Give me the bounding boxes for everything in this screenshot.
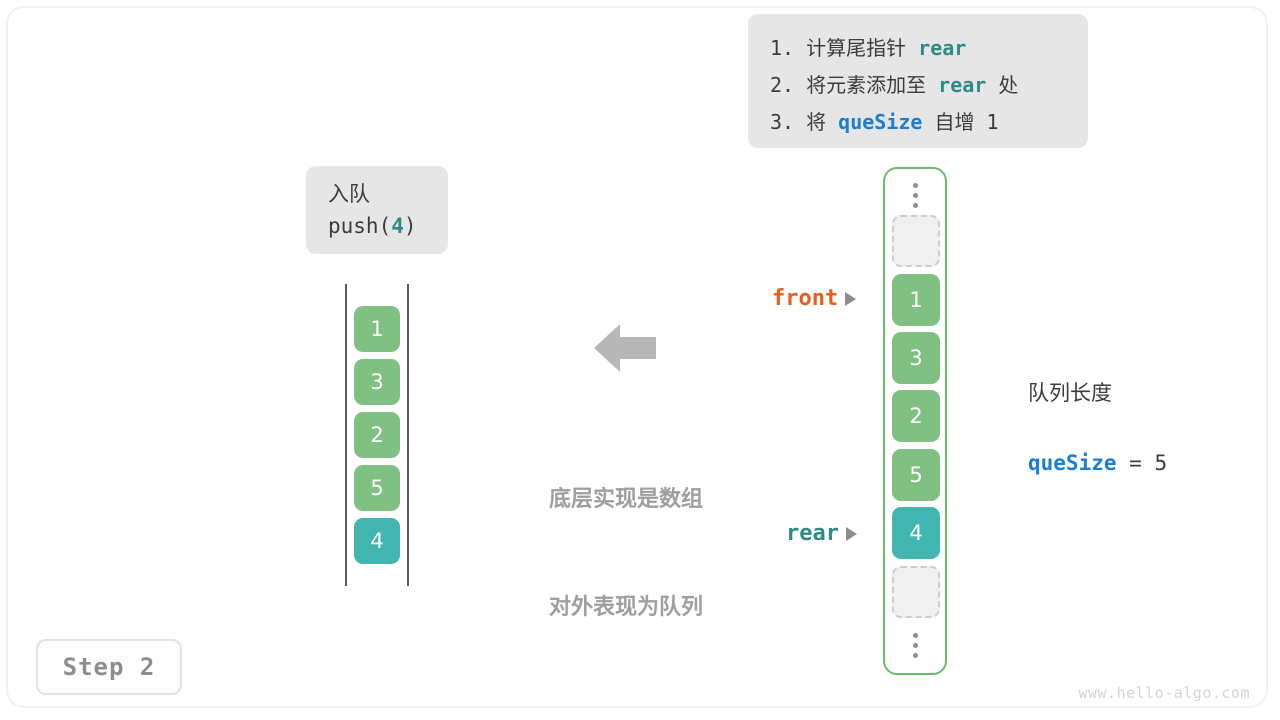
step-badge: Step 2 (36, 639, 182, 695)
step-1-keyword: rear (918, 36, 966, 60)
quesize-caption: 队列长度 (1028, 378, 1167, 408)
push-code-prefix: push( (328, 214, 391, 238)
front-arrow-icon (845, 292, 856, 306)
queue-cell-3: 5 (354, 465, 400, 511)
front-pointer-text: front (772, 286, 838, 311)
push-code-value: 4 (391, 214, 404, 238)
array-cell-1: 1 (892, 274, 940, 326)
rear-pointer-label: rear (786, 521, 857, 546)
queue-cell-1: 3 (354, 359, 400, 405)
array-cell-0 (892, 215, 940, 267)
step-1-text-before: 计算尾指针 (806, 36, 918, 60)
push-operation-label: 入队 (328, 179, 448, 209)
step-line-1: 1. 计算尾指针 rear (770, 30, 1088, 67)
push-code-expression: push(4) (328, 209, 448, 243)
push-code-suffix: ) (404, 214, 417, 238)
array-backing-store: 1 3 2 5 4 (883, 167, 947, 675)
quesize-expression: queSize = 5 (1028, 446, 1167, 480)
step-1-index: 1. (770, 36, 806, 60)
push-operation-box: 入队 push(4) (306, 166, 448, 254)
diagram-canvas: 1. 计算尾指针 rear 2. 将元素添加至 rear 处 3. 将 queS… (0, 0, 1280, 720)
step-2-keyword: rear (938, 73, 986, 97)
queue-rail-right (407, 284, 409, 586)
front-pointer-label: front (772, 286, 856, 311)
quesize-note: 队列长度 queSize = 5 (1028, 340, 1167, 518)
center-caption: 底层实现是数组 对外表现为队列 (528, 410, 724, 698)
watermark: www.hello-algo.com (1078, 684, 1250, 702)
array-bottom-ellipsis-icon (885, 633, 945, 658)
queue-rail-left (345, 284, 347, 586)
steps-instruction-panel: 1. 计算尾指针 rear 2. 将元素添加至 rear 处 3. 将 queS… (748, 14, 1088, 148)
step-2-text-after: 处 (986, 73, 1018, 97)
queue-abstract-view: 1 3 2 5 4 (345, 284, 409, 586)
rear-pointer-text: rear (786, 521, 839, 546)
queue-cell-0: 1 (354, 306, 400, 352)
queue-cell-4: 4 (354, 518, 400, 564)
rear-arrow-icon (846, 527, 857, 541)
step-line-3: 3. 将 queSize 自增 1 (770, 104, 1088, 141)
quesize-variable: queSize (1028, 451, 1117, 475)
step-line-2: 2. 将元素添加至 rear 处 (770, 67, 1088, 104)
array-cell-5: 4 (892, 507, 940, 559)
step-3-keyword: queSize (838, 110, 922, 134)
step-3-text-before: 将 (806, 110, 838, 134)
quesize-equals: = (1117, 451, 1155, 475)
queue-cell-2: 2 (354, 412, 400, 458)
step-3-index: 3. (770, 110, 806, 134)
quesize-value: 5 (1154, 451, 1167, 475)
step-3-text-after: 自增 1 (922, 110, 998, 134)
step-2-text-before: 将元素添加至 (806, 73, 938, 97)
center-caption-line-1: 底层实现是数组 (528, 482, 724, 518)
step-2-index: 2. (770, 73, 806, 97)
array-top-ellipsis-icon (885, 183, 945, 208)
array-cell-6 (892, 566, 940, 618)
array-cell-2: 3 (892, 332, 940, 384)
transform-arrow-icon (594, 320, 656, 380)
center-caption-line-2: 对外表现为队列 (528, 590, 724, 626)
array-cell-4: 5 (892, 449, 940, 501)
array-cell-3: 2 (892, 390, 940, 442)
